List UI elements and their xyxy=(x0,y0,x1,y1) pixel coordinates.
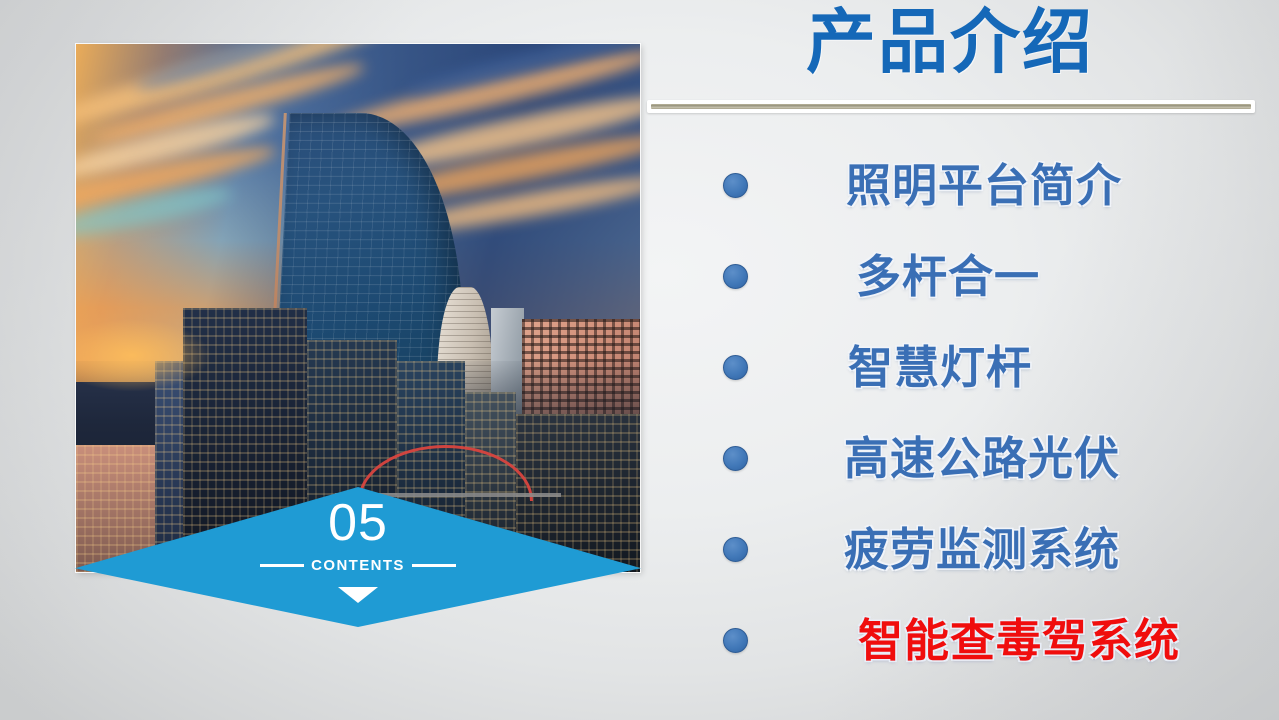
bullet-circle-icon xyxy=(723,446,748,471)
agenda-item-label: 疲劳监测系统 xyxy=(844,527,1120,572)
agenda-item-label: 多杆合一 xyxy=(856,254,1040,299)
page-title: 产品介绍 xyxy=(640,6,1260,80)
title-divider xyxy=(647,100,1255,113)
list-item[interactable]: 疲劳监测系统 xyxy=(700,504,1260,595)
contents-label-row: CONTENTS xyxy=(75,557,641,574)
agenda-item-label: 智慧灯杆 xyxy=(848,345,1032,390)
divider-bar xyxy=(651,104,1251,109)
bullet-circle-icon xyxy=(723,537,748,562)
agenda-item-label: 智能查毒驾系统 xyxy=(858,618,1180,663)
list-item[interactable]: 高速公路光伏 xyxy=(700,413,1260,504)
presentation-slide: 05 CONTENTS 产品介绍 照明平台简介 多杆合一 智慧灯杆 高速公路光伏 xyxy=(0,0,1279,720)
contents-label: CONTENTS xyxy=(311,557,405,574)
list-item[interactable]: 照明平台简介 xyxy=(700,140,1260,231)
rule-left xyxy=(260,564,304,567)
bullet-circle-icon xyxy=(723,264,748,289)
list-item[interactable]: 智慧灯杆 xyxy=(700,322,1260,413)
agenda-list: 照明平台简介 多杆合一 智慧灯杆 高速公路光伏 疲劳监测系统 智能查毒驾系统 xyxy=(700,140,1260,686)
list-item[interactable]: 多杆合一 xyxy=(700,231,1260,322)
bullet-circle-icon xyxy=(723,173,748,198)
list-item[interactable]: 智能查毒驾系统 xyxy=(700,595,1260,686)
rule-right xyxy=(412,564,456,567)
bullet-circle-icon xyxy=(723,355,748,380)
bullet-circle-icon xyxy=(723,628,748,653)
caret-down-icon xyxy=(338,587,378,603)
agenda-item-label: 照明平台简介 xyxy=(846,163,1122,208)
agenda-item-label: 高速公路光伏 xyxy=(844,436,1120,481)
sunset-glow xyxy=(76,319,211,393)
